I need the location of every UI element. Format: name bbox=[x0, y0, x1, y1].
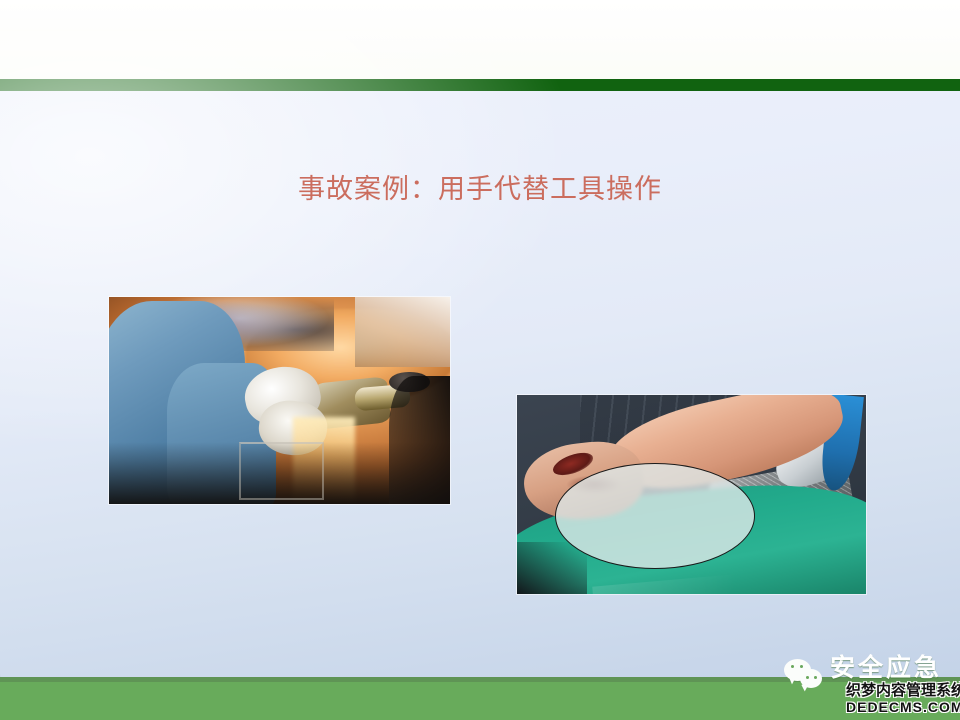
or-drape-upper-right bbox=[355, 297, 450, 367]
watermark: 织梦内容管理系统 DEDECMS.COM bbox=[846, 682, 960, 715]
operating-room-photo-content bbox=[109, 297, 450, 504]
injured-arm-photo bbox=[517, 395, 866, 594]
wechat-dot-small-left bbox=[806, 676, 809, 679]
blur-ellipse-overlay bbox=[555, 463, 755, 569]
watermark-cn-text: 织梦内容管理系统 bbox=[846, 682, 960, 699]
page-title: 事故案例：用手代替工具操作 bbox=[0, 172, 960, 206]
arm-left-shadow bbox=[517, 542, 587, 594]
wechat-logo bbox=[784, 657, 828, 693]
arm-drape-fold bbox=[592, 566, 830, 594]
operating-room-photo bbox=[109, 297, 450, 504]
brand-name: 安全应急 bbox=[830, 654, 942, 683]
header-green-rule bbox=[0, 79, 960, 91]
header-strip bbox=[0, 0, 960, 79]
injured-arm-photo-content bbox=[517, 395, 866, 594]
or-right-shadow bbox=[389, 376, 450, 504]
watermark-en-text: DEDECMS.COM bbox=[846, 699, 960, 715]
wechat-bubble-small bbox=[800, 669, 822, 688]
or-table-frame bbox=[239, 442, 325, 500]
slide-canvas: 事故案例：用手代替工具操作 bbox=[0, 0, 960, 720]
wechat-dot-small-right bbox=[814, 676, 817, 679]
